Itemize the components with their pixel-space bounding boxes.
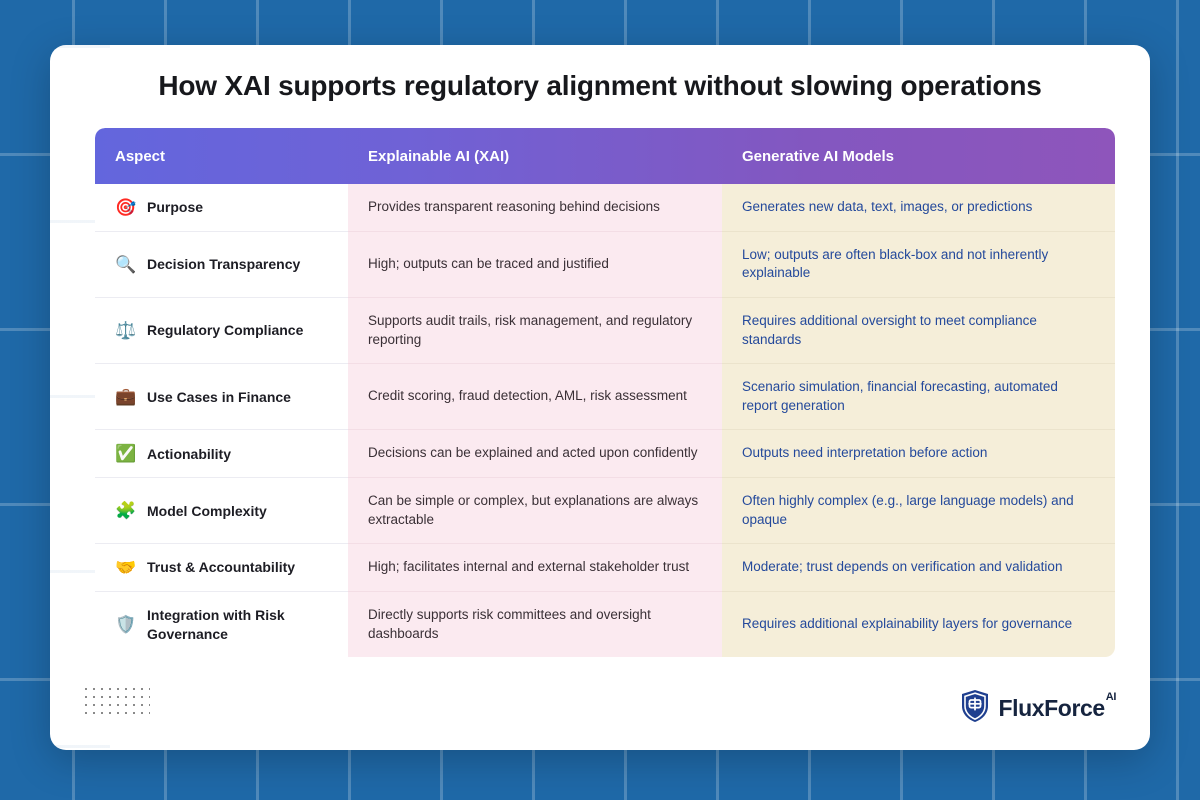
table-header-row: Aspect Explainable AI (XAI) Generative A… [95,128,1115,184]
genai-cell: Requires additional oversight to meet co… [722,298,1115,364]
aspect-label: Actionability [147,445,231,463]
genai-cell: Scenario simulation, financial forecasti… [722,364,1115,430]
shield-badge-icon [960,689,990,728]
xai-cell: Provides transparent reasoning behind de… [348,184,722,232]
genai-cell: Low; outputs are often black-box and not… [722,232,1115,298]
aspect-label: Purpose [147,198,203,216]
xai-cell: Directly supports risk committees and ov… [348,592,722,657]
comparison-table: Aspect Explainable AI (XAI) Generative A… [95,128,1115,657]
table-row: 🤝 Trust & Accountability High; facilitat… [95,544,1115,592]
column-header-aspect: Aspect [95,128,348,184]
aspect-label: Integration with Risk Governance [147,606,328,642]
aspect-cell: ⚖️ Regulatory Compliance [95,298,348,364]
genai-cell: Moderate; trust depends on verification … [722,544,1115,592]
xai-cell: Can be simple or complex, but explanatio… [348,478,722,544]
page-title: How XAI supports regulatory alignment wi… [50,70,1150,102]
aspect-label: Decision Transparency [147,255,300,273]
aspect-cell: 🤝 Trust & Accountability [95,544,348,592]
xai-cell: High; outputs can be traced and justifie… [348,232,722,298]
genai-cell: Requires additional explainability layer… [722,592,1115,657]
aspect-label: Regulatory Compliance [147,321,303,339]
table-row: ⚖️ Regulatory Compliance Supports audit … [95,298,1115,364]
aspect-cell: 🔍 Decision Transparency [95,232,348,298]
table-row: ✅ Actionability Decisions can be explain… [95,430,1115,478]
dot-grid-decoration [82,685,150,719]
puzzle-piece-icon: 🧩 [115,502,137,519]
aspect-cell: 🎯 Purpose [95,184,348,232]
column-header-genai: Generative AI Models [722,128,1115,184]
balance-scale-icon: ⚖️ [115,322,137,339]
aspect-cell: 🛡️ Integration with Risk Governance [95,592,348,657]
brand-logo: FluxForceAI [960,689,1115,728]
xai-cell: Decisions can be explained and acted upo… [348,430,722,478]
genai-cell: Generates new data, text, images, or pre… [722,184,1115,232]
logo-superscript: AI [1106,691,1116,703]
logo-wordmark: FluxForceAI [998,695,1115,722]
logo-name: FluxForce [998,695,1104,721]
aspect-label: Model Complexity [147,502,267,520]
aspect-label: Use Cases in Finance [147,388,291,406]
aspect-cell: 🧩 Model Complexity [95,478,348,544]
handshake-icon: 🤝 [115,559,137,576]
xai-cell: Credit scoring, fraud detection, AML, ri… [348,364,722,430]
shield-icon: 🛡️ [115,616,137,633]
column-header-xai: Explainable AI (XAI) [348,128,722,184]
magnifying-glass-icon: 🔍 [115,256,137,273]
genai-cell: Often highly complex (e.g., large langua… [722,478,1115,544]
aspect-cell: ✅ Actionability [95,430,348,478]
table-row: 🧩 Model Complexity Can be simple or comp… [95,478,1115,544]
briefcase-icon: 💼 [115,388,137,405]
table-row: 💼 Use Cases in Finance Credit scoring, f… [95,364,1115,430]
check-box-icon: ✅ [115,445,137,462]
infographic-card: How XAI supports regulatory alignment wi… [50,45,1150,750]
xai-cell: Supports audit trails, risk management, … [348,298,722,364]
target-icon: 🎯 [115,199,137,216]
xai-cell: High; facilitates internal and external … [348,544,722,592]
table-row: 🎯 Purpose Provides transparent reasoning… [95,184,1115,232]
aspect-label: Trust & Accountability [147,558,295,576]
table-row: 🛡️ Integration with Risk Governance Dire… [95,592,1115,657]
genai-cell: Outputs need interpretation before actio… [722,430,1115,478]
table-row: 🔍 Decision Transparency High; outputs ca… [95,232,1115,298]
table-body: 🎯 Purpose Provides transparent reasoning… [95,184,1115,657]
aspect-cell: 💼 Use Cases in Finance [95,364,348,430]
